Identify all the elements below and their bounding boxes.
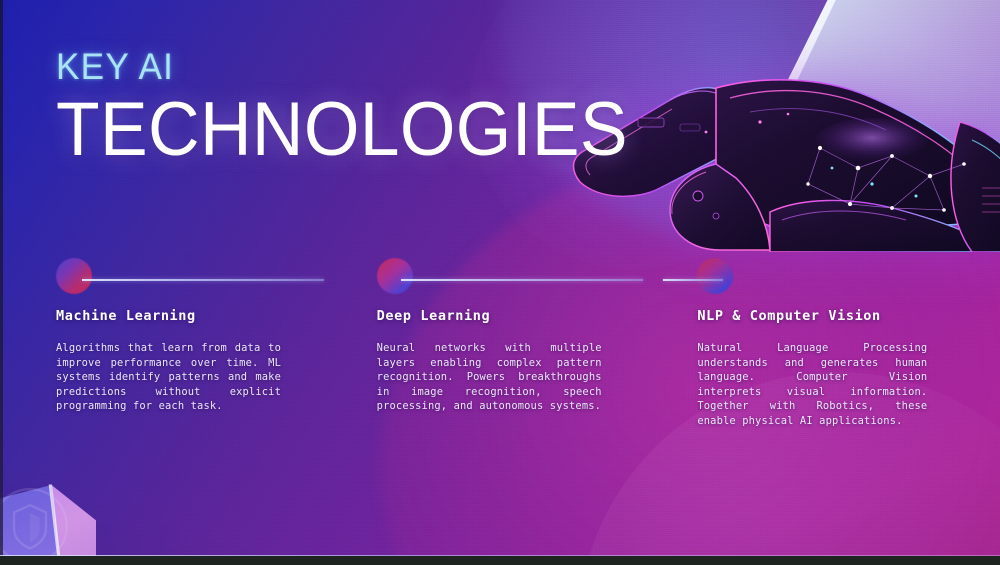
column-heading: Deep Learning — [377, 308, 636, 324]
column-heading: Machine Learning — [56, 308, 315, 324]
page-title: TECHNOLOGIES — [56, 91, 628, 169]
column-marker — [56, 258, 315, 302]
title-eyebrow: KEY AI — [56, 48, 634, 85]
column-body: Natural Language Processing understands … — [697, 341, 927, 429]
frame-left-border — [0, 0, 3, 565]
shield-watermark-icon — [0, 486, 70, 565]
column-body: Algorithms that learn from data to impro… — [56, 341, 281, 414]
divider-rule — [401, 279, 643, 281]
divider-rule — [663, 279, 723, 281]
title-block: KEY AI TECHNOLOGIES — [56, 48, 664, 169]
slide-root: KEY AI TECHNOLOGIES Machine Learning Alg… — [0, 0, 1000, 565]
column-body: Neural networks with multiple layers ena… — [377, 341, 602, 414]
gradient-dot-icon — [56, 258, 92, 294]
divider-rule — [82, 279, 324, 281]
column-nlp-computer-vision: NLP & Computer Vision Natural Language P… — [697, 258, 956, 438]
column-marker — [697, 258, 956, 302]
column-deep-learning: Deep Learning Neural networks with multi… — [377, 258, 636, 438]
columns-container: Machine Learning Algorithms that learn f… — [56, 258, 956, 438]
column-machine-learning: Machine Learning Algorithms that learn f… — [56, 258, 315, 438]
frame-bottom-bar — [0, 556, 1000, 565]
gradient-dot-icon — [377, 258, 413, 294]
column-marker — [377, 258, 636, 302]
gradient-dot-icon — [697, 258, 733, 294]
column-heading: NLP & Computer Vision — [697, 308, 956, 324]
